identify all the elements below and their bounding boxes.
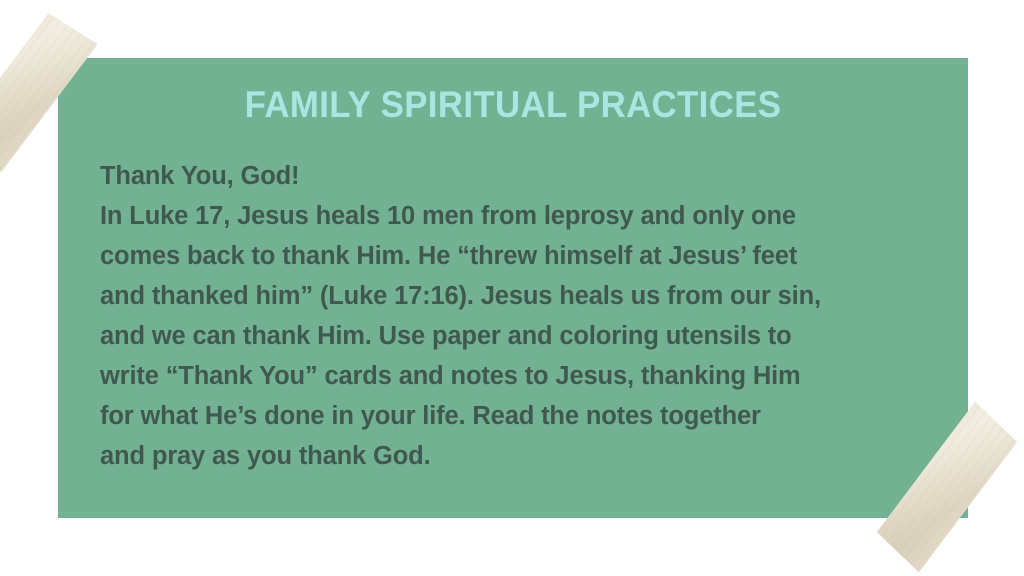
page-title: FAMILY SPIRITUAL PRACTICES [85,83,940,127]
body-line: In Luke 17, Jesus heals 10 men from lepr… [100,196,930,236]
body-line: write “Thank You” cards and notes to Jes… [100,356,930,396]
body-text-block: Thank You, God! In Luke 17, Jesus heals … [100,156,930,476]
body-line: and pray as you thank God. [100,436,930,476]
body-line: and we can thank Him. Use paper and colo… [100,316,930,356]
body-line: and thanked him” (Luke 17:16). Jesus hea… [100,276,930,316]
slide-canvas: FAMILY SPIRITUAL PRACTICES Thank You, Go… [0,0,1024,576]
body-line: Thank You, God! [100,156,930,196]
body-line: comes back to thank Him. He “threw himse… [100,236,930,276]
body-line: for what He’s done in your life. Read th… [100,396,930,436]
